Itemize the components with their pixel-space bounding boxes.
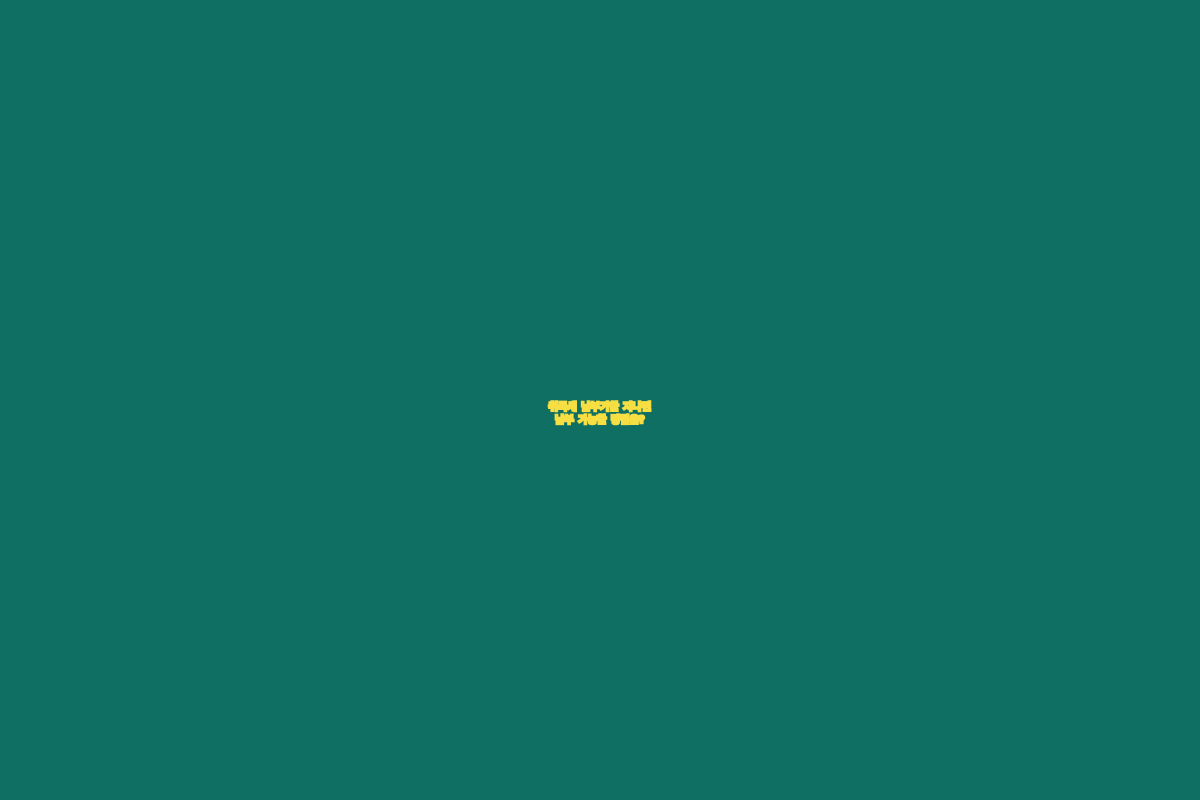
headline-line-2: 납부 가능한 방법은? xyxy=(40,414,1160,427)
text-card: 취득세 납부기한 지나면 납부 가능한 방법은? xyxy=(0,0,1200,800)
headline-block: 취득세 납부기한 지나면 납부 가능한 방법은? xyxy=(0,401,1200,427)
headline-line-1: 취득세 납부기한 지나면 xyxy=(40,401,1160,414)
